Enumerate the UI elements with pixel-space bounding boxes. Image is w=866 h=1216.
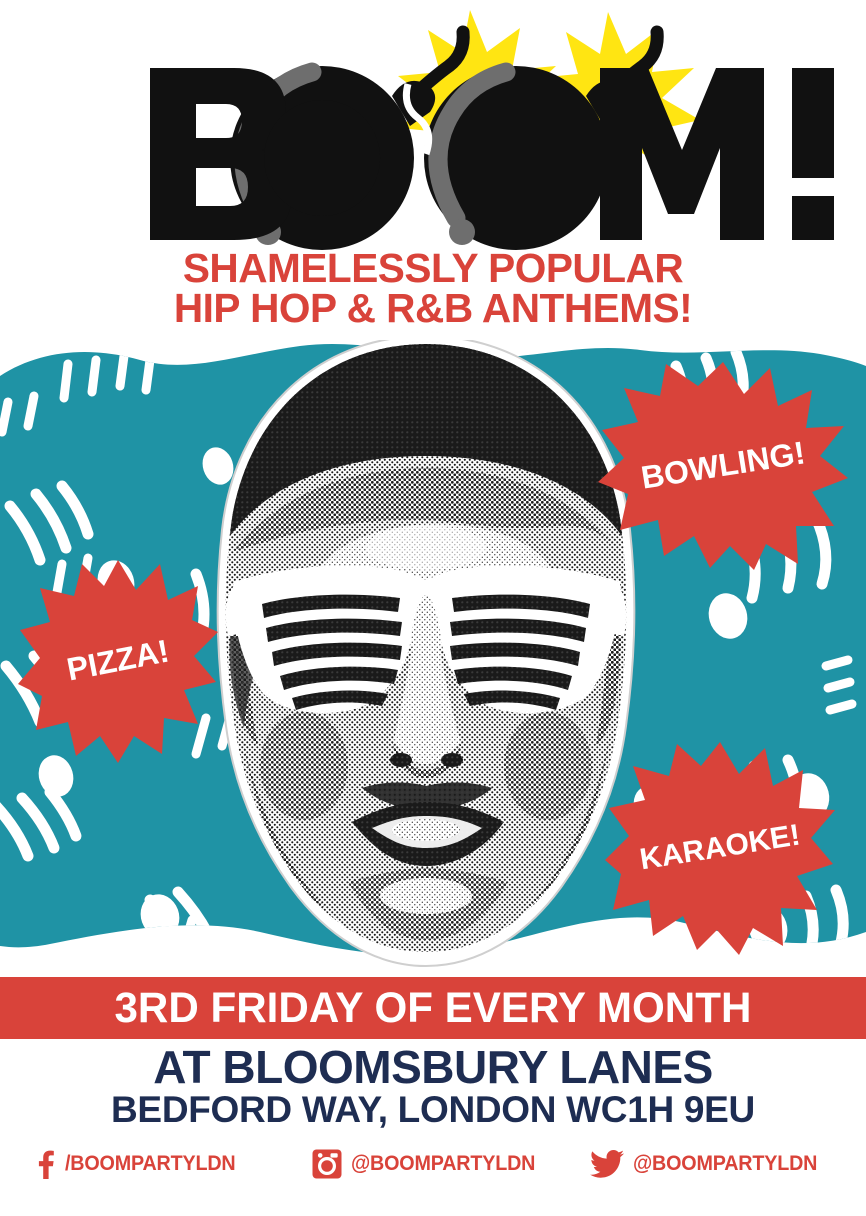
poster-canvas: SHAMELESSLY POPULAR HIP HOP & R&B ANTHEM… — [0, 0, 866, 1216]
facebook-icon — [34, 1149, 56, 1179]
subtitle-line-1: SHAMELESSLY POPULAR — [4, 248, 861, 288]
boom-logo-graphic — [0, 0, 866, 262]
venue-name: AT BLOOMSBURY LANES — [0, 1044, 866, 1090]
facebook-handle: /BOOMPARTYLDN — [65, 1152, 235, 1176]
badge-pizza: PIZZA! — [18, 558, 218, 763]
subtitle-line-2: HIP HOP & R&B ANTHEMS! — [4, 288, 861, 328]
social-link-instagram[interactable]: @BOOMPARTYLDN — [300, 1149, 590, 1179]
badge-bowling: BOWLING! — [598, 360, 848, 570]
poster-header: SHAMELESSLY POPULAR HIP HOP & R&B ANTHEM… — [0, 0, 866, 340]
twitter-icon — [590, 1150, 624, 1178]
venue-address: BEDFORD WAY, LONDON WC1H 9EU — [0, 1091, 866, 1130]
poster-subtitle: SHAMELESSLY POPULAR HIP HOP & R&B ANTHEM… — [4, 248, 861, 328]
social-link-twitter[interactable]: @BOOMPARTYLDN — [590, 1150, 866, 1178]
venue-block: AT BLOOMSBURY LANES BEDFORD WAY, LONDON … — [0, 1044, 866, 1130]
badge-karaoke: KARAOKE! — [605, 740, 835, 955]
instagram-icon — [312, 1149, 342, 1179]
social-link-facebook[interactable]: /BOOMPARTYLDN — [0, 1149, 300, 1179]
twitter-handle: @BOOMPARTYLDN — [633, 1152, 817, 1176]
instagram-handle: @BOOMPARTYLDN — [351, 1152, 535, 1176]
halftone-face-graphic — [186, 336, 666, 976]
date-banner: 3RD FRIDAY OF EVERY MONTH — [0, 977, 866, 1039]
starburst-icon — [605, 740, 835, 955]
starburst-icon — [18, 558, 218, 763]
hero-face-image — [186, 336, 666, 976]
boom-logo — [0, 0, 866, 260]
starburst-icon — [598, 360, 848, 570]
social-bar: /BOOMPARTYLDN @BOOMPARTYLDN @BOOMPARTYLD… — [0, 1142, 866, 1186]
date-banner-text: 3RD FRIDAY OF EVERY MONTH — [115, 984, 752, 1033]
